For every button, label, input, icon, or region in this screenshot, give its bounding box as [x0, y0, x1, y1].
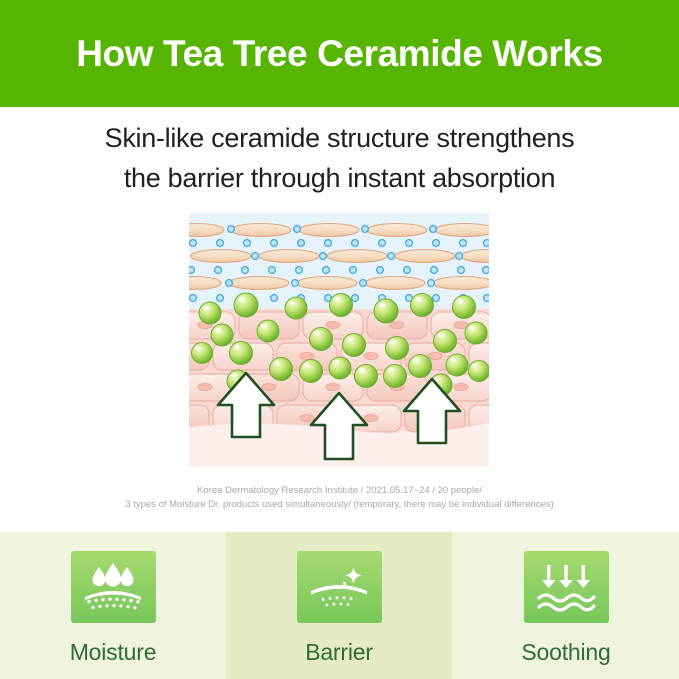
water-droplets-icon — [71, 551, 156, 623]
skin-cross-section-diagram — [189, 213, 489, 467]
benefit-label-barrier: Barrier — [305, 639, 373, 666]
subtitle-line-1: Skin-like ceramide structure strengthens — [0, 118, 679, 158]
benefit-item-moisture[interactable]: Moisture — [0, 532, 226, 679]
subtitle: Skin-like ceramide structure strengthens… — [0, 118, 679, 198]
benefit-item-soothing[interactable]: Soothing — [453, 532, 679, 679]
subtitle-line-2: the barrier through instant absorption — [0, 158, 679, 198]
header-banner: How Tea Tree Ceramide Works — [0, 0, 679, 107]
benefit-item-barrier[interactable]: Barrier — [226, 532, 452, 679]
benefits-section: Moisture Barrier — [0, 532, 679, 679]
infographic-page: How Tea Tree Ceramide Works Skin-like ce… — [0, 0, 679, 679]
caption-line-2: 3 types of Moisture Dr. products used si… — [0, 498, 679, 512]
down-arrows-waves-icon — [524, 551, 609, 623]
barrier-arc-sparkle-icon — [297, 551, 382, 623]
study-caption: Korea Dermatology Research Institute / 2… — [0, 484, 679, 512]
page-title: How Tea Tree Ceramide Works — [76, 33, 603, 75]
benefit-label-moisture: Moisture — [70, 639, 157, 666]
benefit-label-soothing: Soothing — [521, 639, 610, 666]
caption-line-1: Korea Dermatology Research Institute / 2… — [0, 484, 679, 498]
